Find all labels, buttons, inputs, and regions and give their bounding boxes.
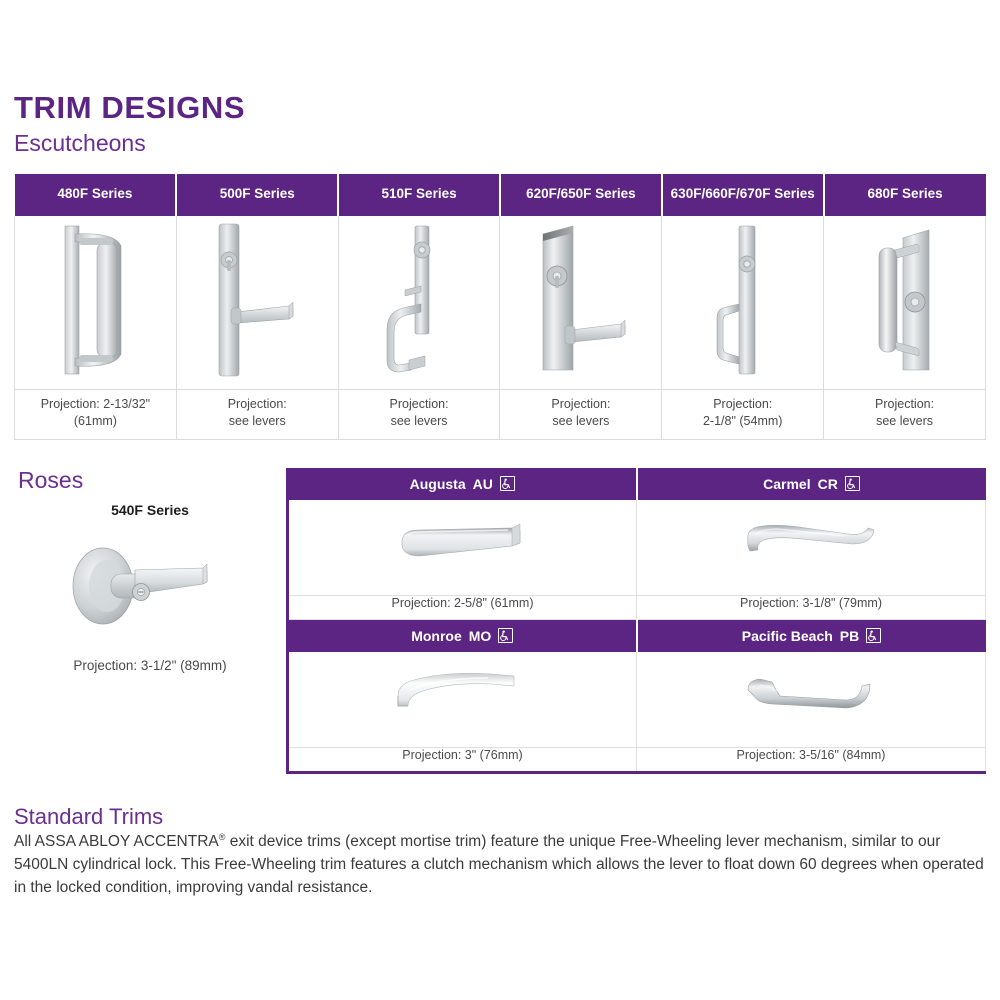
levers-header-row-2: Monroe MO Pacific Beach PB [288, 620, 986, 652]
lever-projection-monroe: Projection: 3" (76mm) [288, 748, 637, 773]
escutcheon-header-680f: 680F Series [824, 174, 986, 216]
lever-image-augusta [288, 500, 637, 596]
escutcheon-image-500f [176, 216, 338, 390]
lever-header-carmel: Carmel CR [637, 468, 986, 500]
lever-name-carmel: Carmel [763, 476, 810, 492]
lever-projection-carmel: Projection: 3-1/8" (79mm) [637, 596, 986, 620]
escutcheon-image-480f [15, 216, 177, 390]
lever-name-augusta: Augusta [410, 476, 466, 492]
escutcheons-section-heading: Escutcheons [14, 131, 986, 156]
escutcheon-image-510f [338, 216, 500, 390]
escutcheon-projection-510f: Projection:see levers [338, 389, 500, 439]
wheelchair-accessible-icon [498, 628, 513, 643]
wheelchair-accessible-icon [866, 628, 881, 643]
pull-handle-offset-escutcheon-icon [35, 220, 155, 380]
levers-image-row-2 [288, 652, 986, 748]
escutcheon-header-480f: 480F Series [15, 174, 177, 216]
roses-section: Roses 540F Series [14, 468, 986, 788]
monroe-lever-icon [388, 662, 538, 732]
rose-lever-with-cylinder-icon [55, 524, 245, 644]
rose-series-image [14, 524, 286, 644]
levers-table: Augusta AU Carmel CR [286, 468, 986, 775]
lever-projection-pacific-beach: Projection: 3-5/16" (84mm) [637, 748, 986, 773]
escutcheons-header-row: 480F Series 500F Series 510F Series 620F… [15, 174, 986, 216]
escutcheon-projection-630f-660f-670f: Projection:2-1/8" (54mm) [662, 389, 824, 439]
lever-name-pacific-beach: Pacific Beach [742, 628, 833, 644]
escutcheon-image-620f-650f [500, 216, 662, 390]
lever-image-pacific-beach [637, 652, 986, 748]
lever-code-pacific-beach: PB [840, 628, 859, 644]
standard-trims-paragraph: All ASSA ABLOY ACCENTRA® exit device tri… [14, 831, 986, 900]
lever-header-augusta: Augusta AU [288, 468, 637, 500]
standard-trims-text-part1: All ASSA ABLOY ACCENTRA [14, 833, 219, 850]
escutcheon-projection-480f: Projection: 2-13/32"(61mm) [15, 389, 177, 439]
lever-projection-augusta: Projection: 2-5/8" (61mm) [288, 596, 637, 620]
pacific-beach-lever-icon [736, 662, 886, 732]
trim-designs-page: TRIM DESIGNS Escutcheons 480F Series 500… [0, 0, 1000, 1000]
narrow-escutcheon-pull-cylinder-icon [683, 220, 803, 380]
levers-image-row-1 [288, 500, 986, 596]
lever-image-monroe [288, 652, 637, 748]
lever-header-monroe: Monroe MO [288, 620, 637, 652]
carmel-lever-icon [736, 510, 886, 580]
escutcheon-projection-680f: Projection:see levers [824, 389, 986, 439]
escutcheon-image-630f-660f-670f [662, 216, 824, 390]
escutcheon-header-510f: 510F Series [338, 174, 500, 216]
standard-trims-heading: Standard Trims [14, 804, 986, 829]
levers-caption-row-2: Projection: 3" (76mm) Projection: 3-5/16… [288, 748, 986, 773]
rose-series-projection: Projection: 3-1/2" (89mm) [14, 658, 286, 673]
lever-code-augusta: AU [473, 476, 493, 492]
page-title: TRIM DESIGNS [14, 0, 986, 125]
lever-image-carmel [637, 500, 986, 596]
lever-name-monroe: Monroe [411, 628, 462, 644]
lever-header-pacific-beach: Pacific Beach PB [637, 620, 986, 652]
escutcheons-caption-row: Projection: 2-13/32"(61mm) Projection:se… [15, 389, 986, 439]
augusta-lever-icon [388, 510, 538, 580]
escutcheon-header-620f-650f: 620F/650F Series [500, 174, 662, 216]
wide-escutcheon-lever-cylinder-icon [521, 220, 641, 380]
levers-header-row-1: Augusta AU Carmel CR [288, 468, 986, 500]
thumbpiece-pull-escutcheon-icon [359, 220, 479, 380]
escutcheon-header-630f-660f-670f: 630F/660F/670F Series [662, 174, 824, 216]
lever-code-monroe: MO [469, 628, 492, 644]
rose-540f-column: 540F Series [14, 502, 286, 673]
levers-caption-row-1: Projection: 2-5/8" (61mm) Projection: 3-… [288, 596, 986, 620]
pull-plate-escutcheon-cylinder-icon [845, 220, 965, 380]
escutcheon-image-680f [824, 216, 986, 390]
escutcheon-header-500f: 500F Series [176, 174, 338, 216]
escutcheon-projection-500f: Projection:see levers [176, 389, 338, 439]
wheelchair-accessible-icon [500, 476, 515, 491]
escutcheons-table: 480F Series 500F Series 510F Series 620F… [14, 174, 986, 440]
lever-code-carmel: CR [818, 476, 838, 492]
rose-series-label: 540F Series [14, 502, 286, 518]
lever-escutcheon-with-cylinder-icon [197, 220, 317, 380]
escutcheons-image-row [15, 216, 986, 390]
standard-trims-section: Standard Trims All ASSA ABLOY ACCENTRA® … [14, 804, 986, 900]
escutcheon-projection-620f-650f: Projection:see levers [500, 389, 662, 439]
wheelchair-accessible-icon [845, 476, 860, 491]
